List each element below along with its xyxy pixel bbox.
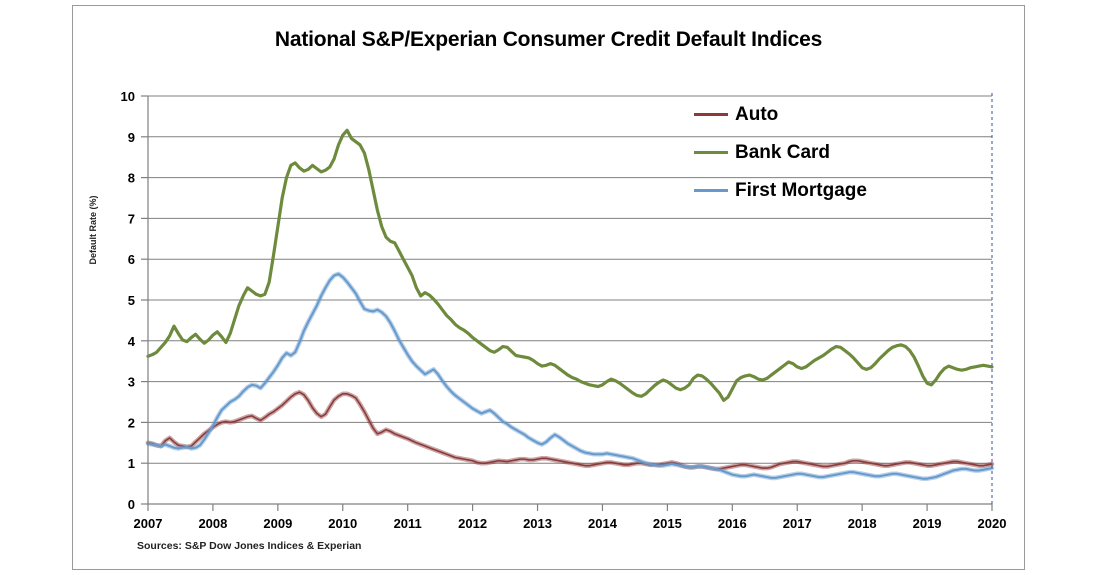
y-tick-label: 9 bbox=[128, 130, 135, 145]
y-tick-label: 1 bbox=[128, 456, 135, 471]
legend-item-bank-card: Bank Card bbox=[694, 143, 867, 162]
y-tick-label: 7 bbox=[128, 211, 135, 226]
y-tick-label: 2 bbox=[128, 415, 135, 430]
x-tick-label: 2013 bbox=[523, 516, 552, 531]
x-tick-label: 2009 bbox=[263, 516, 292, 531]
x-tick-label: 2010 bbox=[328, 516, 357, 531]
y-tick-label: 3 bbox=[128, 375, 135, 390]
y-axis-ticks: 012345678910 bbox=[121, 89, 148, 512]
source-note: Sources: S&P Dow Jones Indices & Experia… bbox=[137, 540, 361, 552]
y-tick-label: 8 bbox=[128, 171, 135, 186]
x-tick-label: 2019 bbox=[913, 516, 942, 531]
x-tick-label: 2018 bbox=[848, 516, 877, 531]
legend-label: Bank Card bbox=[735, 143, 830, 162]
legend-label: First Mortgage bbox=[735, 181, 867, 200]
y-tick-label: 6 bbox=[128, 252, 135, 267]
chart-legend: AutoBank CardFirst Mortgage bbox=[694, 105, 867, 200]
y-tick-label: 0 bbox=[128, 497, 135, 512]
x-tick-label: 2016 bbox=[718, 516, 747, 531]
x-tick-label: 2015 bbox=[653, 516, 682, 531]
x-tick-label: 2020 bbox=[978, 516, 1007, 531]
legend-item-auto: Auto bbox=[694, 105, 867, 124]
series-line-auto bbox=[148, 392, 992, 469]
legend-swatch-icon bbox=[694, 113, 728, 116]
chart-plot: 012345678910 200720082009201020112012201… bbox=[0, 0, 1098, 575]
legend-item-first-mortgage: First Mortgage bbox=[694, 181, 867, 200]
series-halo-auto bbox=[148, 392, 992, 469]
x-tick-label: 2008 bbox=[198, 516, 227, 531]
x-tick-label: 2017 bbox=[783, 516, 812, 531]
legend-label: Auto bbox=[735, 105, 778, 124]
x-tick-label: 2011 bbox=[394, 516, 422, 531]
x-tick-label: 2012 bbox=[458, 516, 487, 531]
legend-swatch-icon bbox=[694, 151, 728, 154]
legend-swatch-icon bbox=[694, 189, 728, 192]
y-tick-label: 10 bbox=[121, 89, 135, 104]
y-tick-label: 4 bbox=[128, 334, 136, 349]
x-axis-ticks: 2007200820092010201120122013201420152016… bbox=[134, 504, 1007, 531]
y-tick-label: 5 bbox=[128, 293, 135, 308]
x-tick-label: 2007 bbox=[134, 516, 163, 531]
x-tick-label: 2014 bbox=[588, 516, 618, 531]
